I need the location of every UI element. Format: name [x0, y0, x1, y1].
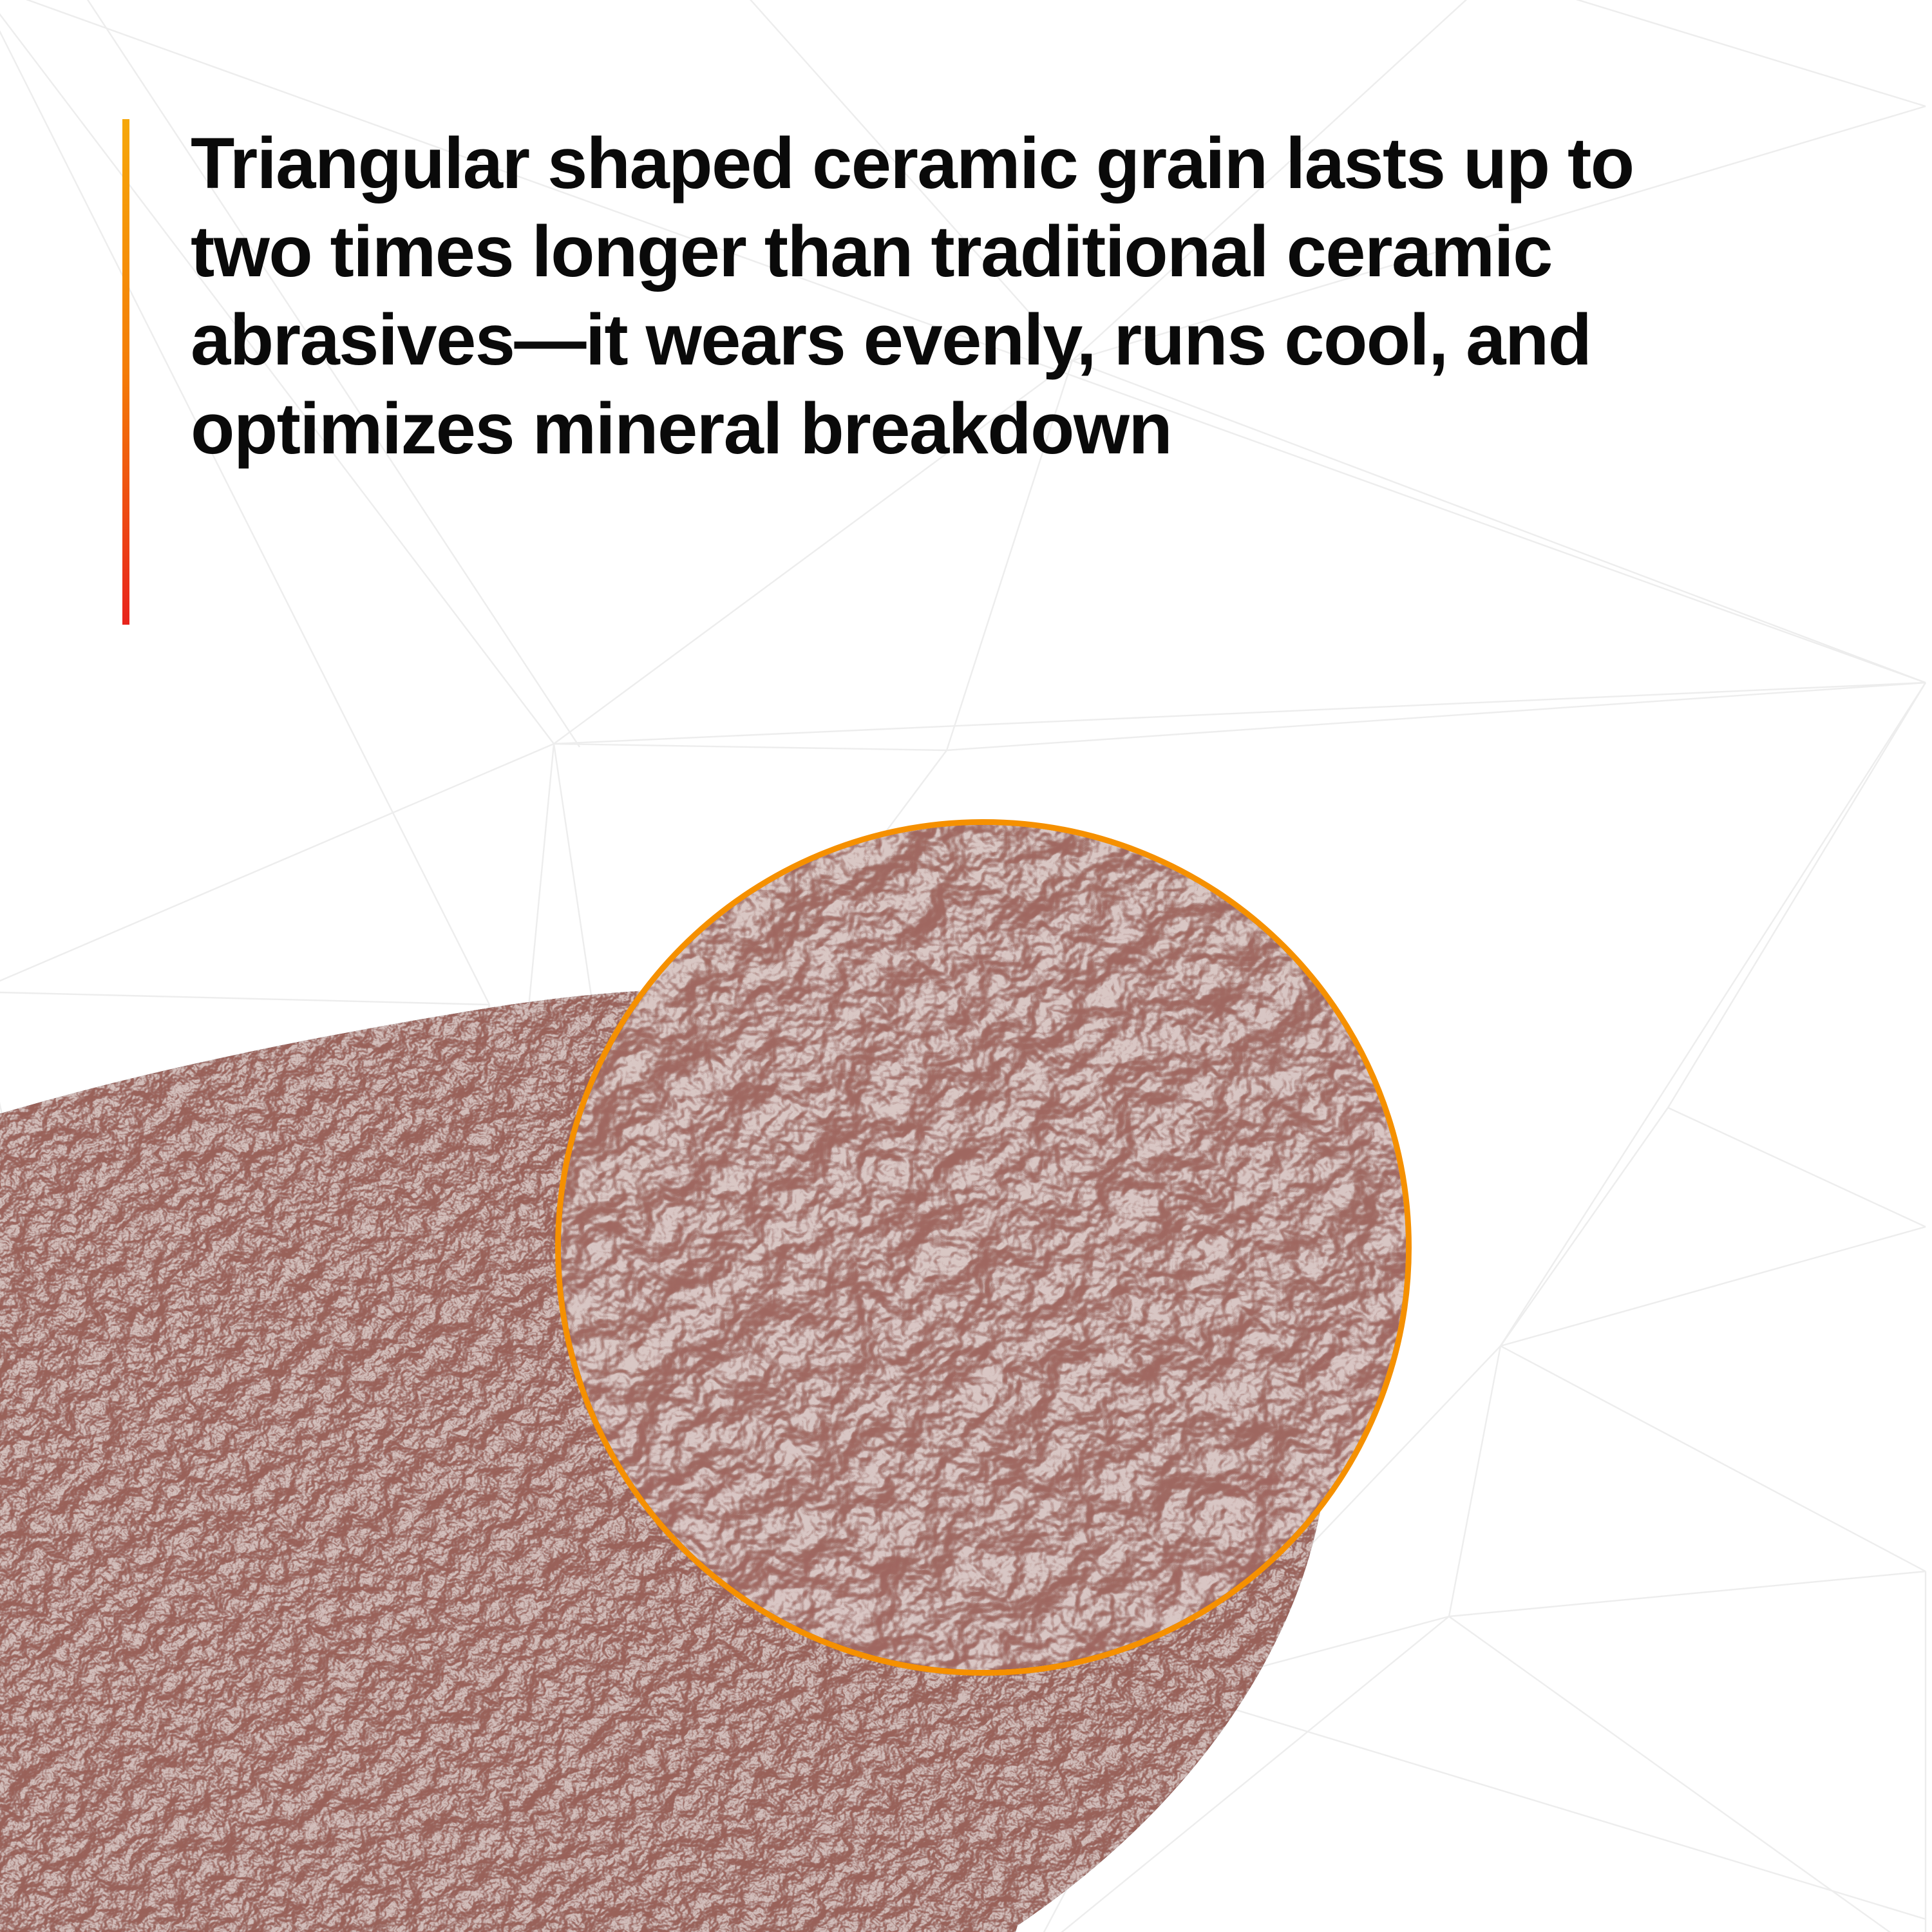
accent-gradient-bar [122, 119, 129, 625]
page-title: Triangular shaped ceramic grain lasts up… [191, 119, 1736, 625]
headline-block: Triangular shaped ceramic grain lasts up… [122, 119, 1771, 625]
magnifier-lens [555, 819, 1412, 1676]
magnified-grit-texture [561, 825, 1406, 1670]
feature-card-canvas: Triangular shaped ceramic grain lasts up… [0, 0, 1932, 1932]
